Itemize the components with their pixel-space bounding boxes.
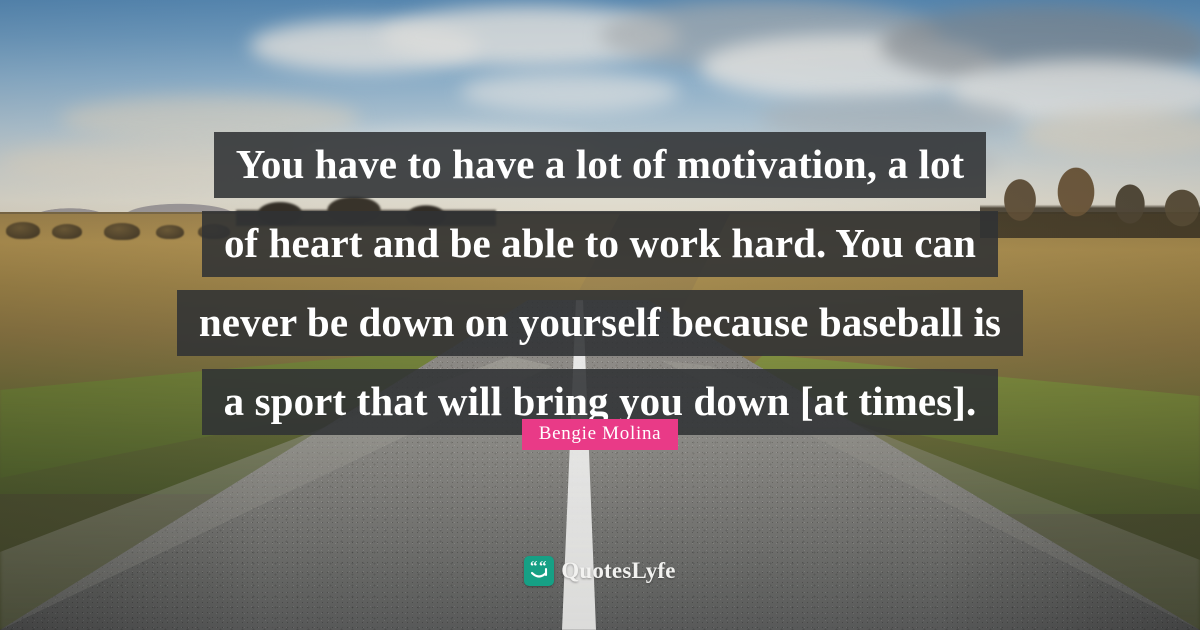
- quote-smiley-icon: “ “: [524, 556, 554, 586]
- quote-line: never be down on yourself because baseba…: [177, 290, 1023, 356]
- quote-block: You have to have a lot of motivation, a …: [0, 132, 1200, 435]
- brand-watermark[interactable]: “ “ QuotesLyfe: [0, 556, 1200, 586]
- brand-name: QuotesLyfe: [561, 556, 675, 586]
- quote-line: of heart and be able to work hard. You c…: [202, 211, 998, 277]
- quote-card: You have to have a lot of motivation, a …: [0, 0, 1200, 630]
- cloud: [460, 72, 680, 112]
- author-name-badge[interactable]: Bengie Molina: [522, 419, 679, 450]
- author-attribution: Bengie Molina: [0, 419, 1200, 450]
- quote-line: You have to have a lot of motivation, a …: [214, 132, 987, 198]
